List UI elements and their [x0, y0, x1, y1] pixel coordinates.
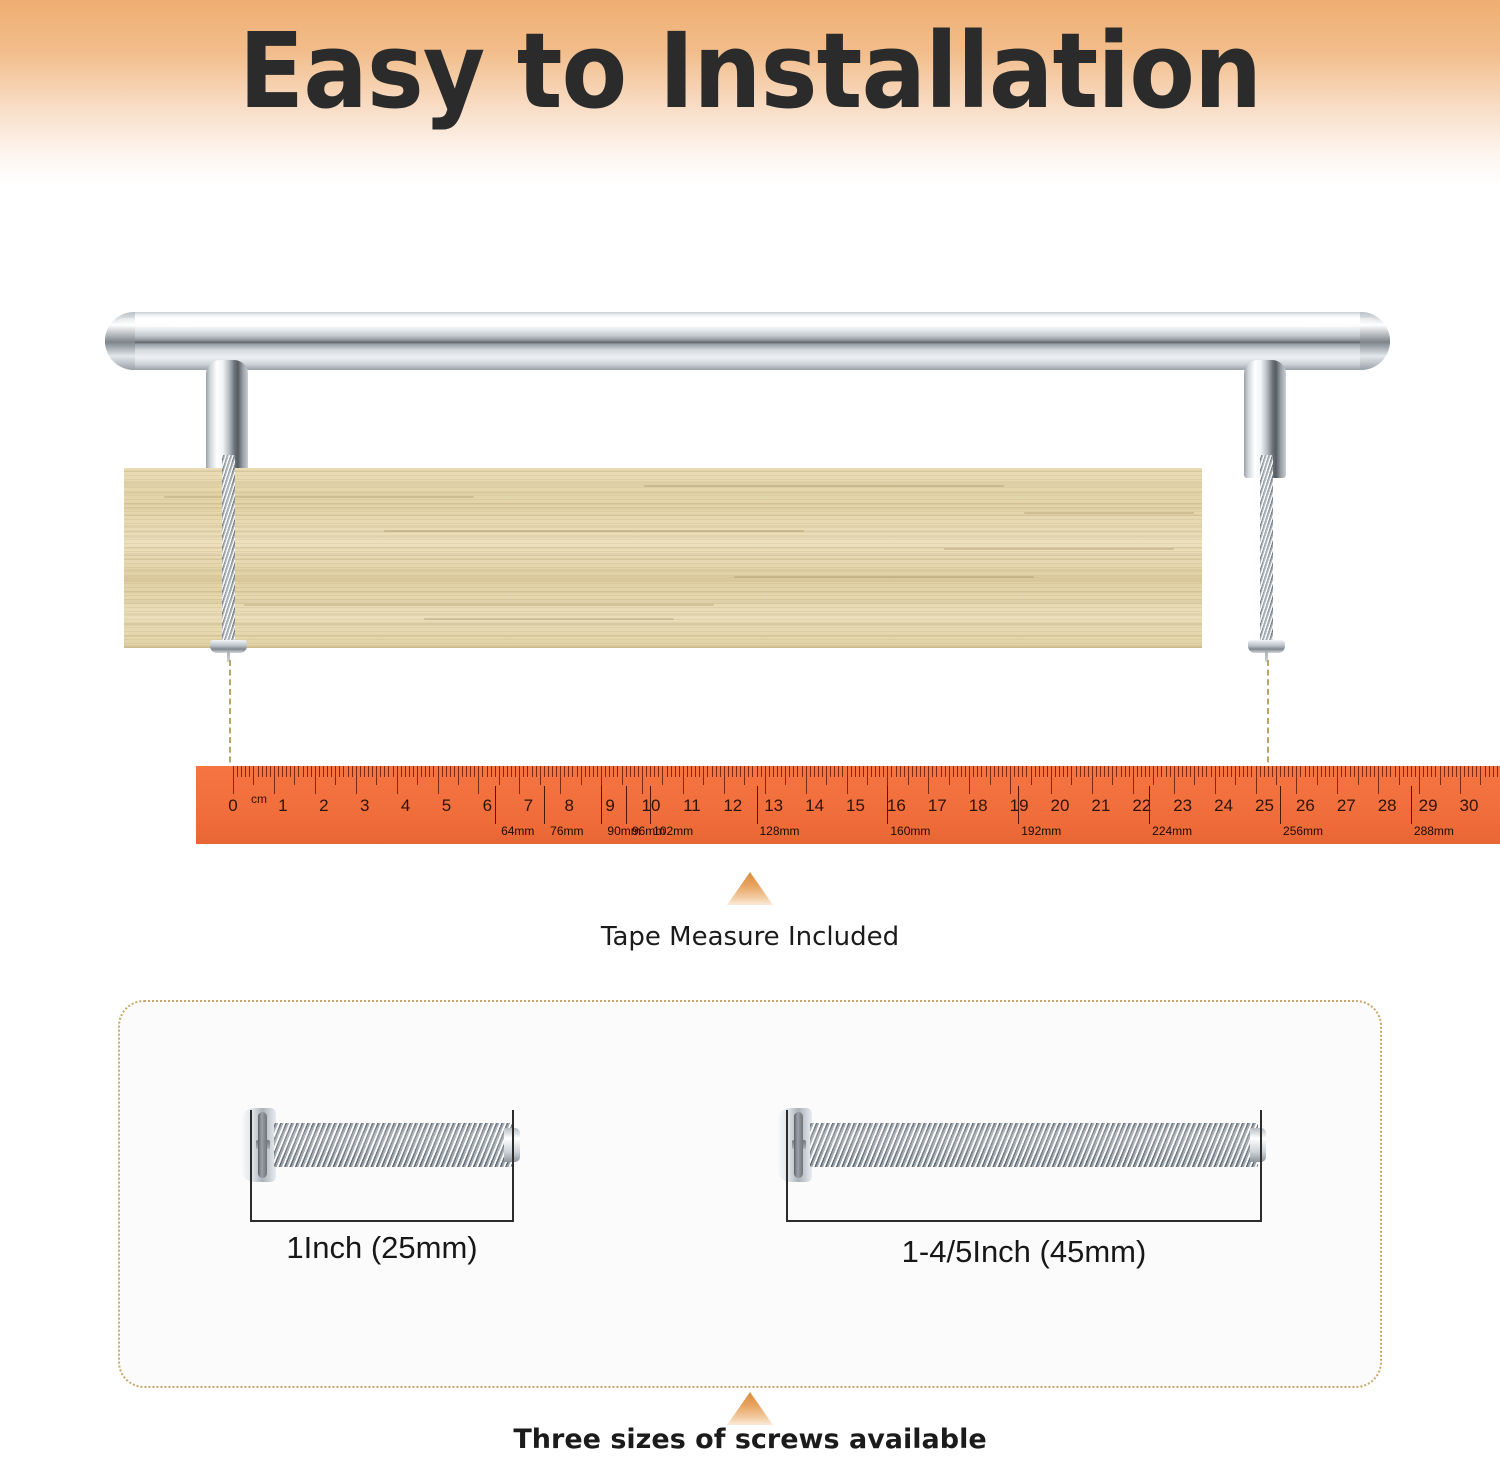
ruler-mm-mark	[887, 786, 888, 824]
ruler-tick	[949, 766, 950, 785]
ruler-tick	[1337, 766, 1338, 794]
ruler-tick	[339, 766, 340, 777]
ruler-tick	[1247, 766, 1248, 777]
ruler-tick	[241, 766, 242, 777]
ruler-tick	[597, 766, 598, 777]
ruler-cm-number: 25	[1255, 796, 1274, 816]
ruler-tick	[1350, 766, 1351, 777]
ruler-tick	[585, 766, 586, 777]
ruler-mm-mark	[757, 786, 758, 824]
ruler-cm-number: 23	[1173, 796, 1192, 816]
ruler-tick	[1178, 766, 1179, 777]
ruler-tick	[356, 766, 357, 794]
ruler-tick	[1448, 766, 1449, 777]
ruler-tick	[671, 766, 672, 777]
ruler-tick	[1125, 766, 1126, 777]
ruler-tick	[973, 766, 974, 777]
ruler-tick	[425, 766, 426, 777]
ruler-tick	[495, 766, 496, 777]
ruler-mm-mark	[544, 786, 545, 824]
ruler-tick	[1264, 766, 1265, 777]
ruler-mm-label: 128mm	[760, 824, 800, 838]
ruler-tick	[1341, 766, 1342, 777]
ruler-tick	[781, 766, 782, 777]
ruler-tick	[998, 766, 999, 777]
ruler-tick	[957, 766, 958, 777]
ruler-tick	[568, 766, 569, 777]
ruler-tick	[1485, 766, 1486, 777]
ruler-tick	[1157, 766, 1158, 777]
ruler-tick	[904, 766, 905, 777]
ruler-tick	[1362, 766, 1363, 777]
ruler-tick	[1309, 766, 1310, 777]
ruler-cm-number: 27	[1337, 796, 1356, 816]
ruler-tick	[757, 766, 758, 777]
ruler-tick	[826, 766, 827, 785]
ruler-tick	[912, 766, 913, 777]
screw-size-label-large: 1-4/5Inch (45mm)	[786, 1234, 1262, 1270]
ruler-cm-number: 21	[1091, 796, 1110, 816]
ruler-tick	[1174, 766, 1175, 794]
ruler-tick	[1378, 766, 1379, 794]
ruler-tick	[932, 766, 933, 777]
ruler-tick	[376, 766, 377, 785]
ruler-tick	[1370, 766, 1371, 777]
ruler-tick	[1411, 766, 1412, 777]
ruler-tick	[249, 766, 250, 777]
alignment-dashed-line-right	[1267, 660, 1269, 772]
ruler-tick	[908, 766, 909, 785]
ruler-tick	[1149, 766, 1150, 777]
ruler-tick	[875, 766, 876, 777]
tape-measure-caption: Tape Measure Included	[0, 922, 1500, 952]
ruler-mm-label: 76mm	[550, 824, 583, 838]
ruler-tick	[1014, 766, 1015, 777]
ruler-tick	[613, 766, 614, 777]
ruler-tick	[1080, 766, 1081, 777]
ruler-tick	[810, 766, 811, 777]
ruler-tick	[442, 766, 443, 777]
ruler-tick	[1096, 766, 1097, 777]
ruler-tick	[499, 766, 500, 785]
ruler-tick	[393, 766, 394, 777]
ruler-tick	[421, 766, 422, 777]
ruler-tick	[446, 766, 447, 777]
ruler-tick	[1354, 766, 1355, 777]
ruler-tick	[834, 766, 835, 777]
ruler-tick	[552, 766, 553, 777]
ruler-mm-label: 160mm	[890, 824, 930, 838]
ruler-tick	[961, 766, 962, 777]
ruler-tick	[712, 766, 713, 777]
ruler-tick	[401, 766, 402, 777]
ruler-tick	[1022, 766, 1023, 777]
ruler-tick	[1202, 766, 1203, 777]
ruler-tick	[360, 766, 361, 777]
ruler-cm-number: 15	[846, 796, 865, 816]
ruler-tick	[331, 766, 332, 777]
ruler-tick	[1415, 766, 1416, 777]
ruler-tick	[1382, 766, 1383, 777]
ruler-tick	[556, 766, 557, 777]
installed-screw-right	[1260, 455, 1273, 653]
ruler-tick	[593, 766, 594, 777]
ruler-tick	[450, 766, 451, 777]
ruler-tick	[1243, 766, 1244, 777]
ruler-tick	[311, 766, 312, 777]
alignment-dashed-line-left	[229, 660, 231, 772]
ruler-cm-number: 14	[805, 796, 824, 816]
ruler-tick	[560, 766, 561, 794]
ruler-unit-label: cm	[251, 792, 267, 806]
ruler-mm-mark	[626, 786, 627, 824]
ruler-tick	[364, 766, 365, 777]
ruler-tick	[397, 766, 398, 794]
ruler-tick	[298, 766, 299, 777]
ruler-tick	[785, 766, 786, 785]
ruler-tick	[1186, 766, 1187, 777]
ruler-tick	[675, 766, 676, 777]
ruler-tick	[532, 766, 533, 777]
ruler-tick	[1440, 766, 1441, 785]
ruler-tick	[474, 766, 475, 777]
ruler-tick	[1464, 766, 1465, 777]
ruler-tick	[1190, 766, 1191, 777]
ruler-tick	[1223, 766, 1224, 777]
ruler-tick	[769, 766, 770, 777]
ruler-tick	[536, 766, 537, 777]
ruler-tick	[335, 766, 336, 785]
ruler-tick	[417, 766, 418, 785]
ruler-mm-mark	[1411, 786, 1412, 824]
ruler-tick	[642, 766, 643, 794]
screws-caption: Three sizes of screws available	[0, 1424, 1500, 1455]
ruler-tick	[1133, 766, 1134, 794]
ruler-tick	[818, 766, 819, 777]
screws-panel: 1Inch (25mm) 1-4/5Inch (45mm)	[118, 1000, 1382, 1388]
ruler-tick	[777, 766, 778, 777]
ruler-tick	[1006, 766, 1007, 777]
ruler-tick	[752, 766, 753, 777]
ruler-tick	[1300, 766, 1301, 777]
ruler-cm-number: 0	[228, 796, 237, 816]
ruler-tick	[1407, 766, 1408, 777]
ruler-tick	[482, 766, 483, 777]
ruler-tick	[1166, 766, 1167, 777]
ruler-tick	[990, 766, 991, 785]
ruler-tick	[1137, 766, 1138, 777]
ruler-tick	[1071, 766, 1072, 785]
ruler-tick	[1059, 766, 1060, 777]
ruler-mm-label: 102mm	[653, 824, 693, 838]
ruler-tick	[740, 766, 741, 777]
ruler-tick	[286, 766, 287, 777]
ruler-tick	[797, 766, 798, 777]
ruler-tick	[1345, 766, 1346, 777]
ruler-tick	[667, 766, 668, 777]
ruler-tick	[617, 766, 618, 777]
ruler-tick	[1182, 766, 1183, 777]
ruler-tick	[266, 766, 267, 777]
ruler-cm-number: 7	[524, 796, 533, 816]
ruler-tick	[503, 766, 504, 777]
ruler-tick	[953, 766, 954, 777]
ruler-tick	[348, 766, 349, 777]
ruler-mm-mark	[1018, 786, 1019, 824]
ruler-tick	[650, 766, 651, 777]
ruler-tick	[683, 766, 684, 794]
ruler-tick	[270, 766, 271, 777]
tape-measure-ruler: 0123456789101112131415161718192021222324…	[196, 766, 1500, 844]
wood-cabinet-door-panel	[124, 468, 1202, 648]
ruler-tick	[1051, 766, 1052, 794]
ruler-tick	[253, 766, 254, 785]
ruler-tick	[969, 766, 970, 794]
ruler-tick	[855, 766, 856, 777]
ruler-tick	[830, 766, 831, 777]
screw-size-label-small: 1Inch (25mm)	[250, 1230, 514, 1266]
ruler-tick	[896, 766, 897, 777]
ruler-tick	[384, 766, 385, 777]
ruler-tick	[1460, 766, 1461, 794]
ruler-tick	[679, 766, 680, 777]
ruler-tick	[1284, 766, 1285, 777]
ruler-tick	[491, 766, 492, 777]
ruler-tick	[1129, 766, 1130, 777]
ruler-tick	[1472, 766, 1473, 777]
ruler-cm-number: 28	[1378, 796, 1397, 816]
ruler-tick	[1055, 766, 1056, 777]
ruler-tick	[695, 766, 696, 777]
ruler-tick	[1333, 766, 1334, 777]
ruler-tick	[638, 766, 639, 777]
ruler-tick	[274, 766, 275, 794]
ruler-tick	[1239, 766, 1240, 777]
installation-illustration	[0, 0, 1500, 860]
ruler-tick	[720, 766, 721, 777]
ruler-tick	[1489, 766, 1490, 777]
ruler-tick	[519, 766, 520, 794]
ruler-tick	[1039, 766, 1040, 777]
ruler-tick	[564, 766, 565, 777]
ruler-tick	[748, 766, 749, 777]
ruler-tick	[654, 766, 655, 777]
ruler-tick	[1010, 766, 1011, 794]
ruler-tick	[662, 766, 663, 785]
ruler-tick	[372, 766, 373, 777]
ruler-tick	[765, 766, 766, 794]
ruler-tick	[634, 766, 635, 777]
ruler-cm-number: 4	[401, 796, 410, 816]
ruler-tick	[1141, 766, 1142, 777]
ruler-tick	[703, 766, 704, 785]
screw-measure-bracket-large	[786, 1110, 1262, 1222]
ruler-tick	[1288, 766, 1289, 777]
ruler-tick	[1076, 766, 1077, 777]
ruler-tick	[1427, 766, 1428, 777]
ruler-tick	[278, 766, 279, 777]
ruler-tick	[773, 766, 774, 777]
ruler-tick	[290, 766, 291, 777]
ruler-tick	[1435, 766, 1436, 777]
screw-measure-bracket-small	[250, 1110, 514, 1222]
ruler-mm-mark	[650, 786, 651, 824]
ruler-tick	[1170, 766, 1171, 777]
ruler-tick	[736, 766, 737, 777]
ruler-tick	[724, 766, 725, 794]
ruler-tick	[343, 766, 344, 777]
ruler-mm-label: 256mm	[1283, 824, 1323, 838]
ruler-cm-number: 18	[969, 796, 988, 816]
ruler-tick	[1329, 766, 1330, 777]
ruler-tick	[577, 766, 578, 777]
ruler-tick	[327, 766, 328, 777]
ruler-tick	[1018, 766, 1019, 777]
ruler-tick	[936, 766, 937, 777]
ruler-tick	[1456, 766, 1457, 777]
ruler-tick	[1305, 766, 1306, 777]
ruler-tick	[458, 766, 459, 785]
ruler-cm-number: 30	[1460, 796, 1479, 816]
ruler-tick	[977, 766, 978, 777]
ruler-tick	[1280, 766, 1281, 777]
ruler-tick	[1292, 766, 1293, 777]
ruler-tick	[282, 766, 283, 777]
ruler-tick	[589, 766, 590, 777]
ruler-tick	[429, 766, 430, 777]
ruler-cm-number: 8	[564, 796, 573, 816]
ruler-tick	[842, 766, 843, 777]
ruler-cm-number: 20	[1051, 796, 1070, 816]
ruler-tick	[1219, 766, 1220, 777]
ruler-tick	[859, 766, 860, 777]
ruler-tick	[646, 766, 647, 777]
ruler-tick	[1325, 766, 1326, 777]
ruler-mm-mark	[601, 786, 602, 824]
ruler-tick	[487, 766, 488, 777]
ruler-cm-number: 9	[605, 796, 614, 816]
ruler-tick	[1374, 766, 1375, 777]
ruler-tick	[1047, 766, 1048, 777]
ruler-tick	[928, 766, 929, 794]
ruler-tick	[1399, 766, 1400, 785]
ruler-tick	[303, 766, 304, 777]
ruler-tick	[368, 766, 369, 777]
ruler-tick	[838, 766, 839, 777]
ruler-tick	[315, 766, 316, 794]
ruler-tick	[1067, 766, 1068, 777]
ruler-tick	[891, 766, 892, 777]
ruler-tick	[470, 766, 471, 777]
ruler-tick	[1116, 766, 1117, 777]
ruler-tick	[572, 766, 573, 777]
ruler-tick	[515, 766, 516, 777]
ruler-tick	[1035, 766, 1036, 777]
ruler-tick	[507, 766, 508, 777]
ruler-tick	[1296, 766, 1297, 794]
ruler-tick	[1403, 766, 1404, 777]
ruler-tick	[793, 766, 794, 777]
ruler-tick	[924, 766, 925, 777]
ruler-tick	[941, 766, 942, 777]
ruler-tick	[1272, 766, 1273, 777]
ruler-tick	[707, 766, 708, 777]
ruler-tick	[454, 766, 455, 777]
ruler-tick	[245, 766, 246, 777]
ruler-tick	[1395, 766, 1396, 777]
ruler-tick	[916, 766, 917, 777]
ruler-tick	[1121, 766, 1122, 777]
ruler-mm-label: 224mm	[1152, 824, 1192, 838]
ruler-cm-number: 1	[278, 796, 287, 816]
ruler-tick	[1104, 766, 1105, 777]
installed-screw-left	[222, 455, 235, 653]
ruler-tick	[319, 766, 320, 777]
ruler-cm-number: 5	[442, 796, 451, 816]
ruler-cm-number: 24	[1214, 796, 1233, 816]
ruler-tick	[1313, 766, 1314, 777]
ruler-tick	[687, 766, 688, 777]
ruler-cm-number: 13	[764, 796, 783, 816]
ruler-tick	[802, 766, 803, 777]
ruler-cm-number: 12	[723, 796, 742, 816]
ruler-tick	[1002, 766, 1003, 777]
ruler-tick	[1198, 766, 1199, 777]
ruler-tick	[1366, 766, 1367, 777]
ruler-tick	[1043, 766, 1044, 777]
ruler-tick	[1423, 766, 1424, 777]
ruler-tick	[626, 766, 627, 777]
ruler-tick	[871, 766, 872, 777]
ruler-tick	[965, 766, 966, 777]
ruler-tick	[1063, 766, 1064, 777]
ruler-tick	[1088, 766, 1089, 777]
ruler-tick	[1256, 766, 1257, 794]
ruler-tick	[658, 766, 659, 777]
ruler-tick	[814, 766, 815, 777]
ruler-tick	[728, 766, 729, 777]
ruler-tick	[511, 766, 512, 777]
ruler-tick	[1161, 766, 1162, 777]
ruler-tick	[433, 766, 434, 777]
ruler-tick	[1317, 766, 1318, 785]
ruler-tick	[851, 766, 852, 777]
ruler-tick	[789, 766, 790, 777]
ruler-tick	[409, 766, 410, 777]
ruler-tick	[1251, 766, 1252, 777]
ruler-tick	[462, 766, 463, 777]
ruler-tick	[920, 766, 921, 777]
ruler-tick	[258, 766, 259, 777]
ruler-tick	[262, 766, 263, 777]
ruler-tick	[1026, 766, 1027, 777]
ruler-tick	[1211, 766, 1212, 777]
ruler-tick	[527, 766, 528, 777]
ruler-tick	[605, 766, 606, 777]
ruler-tick	[1112, 766, 1113, 785]
ruler-tick	[388, 766, 389, 777]
ruler-cm-number: 6	[483, 796, 492, 816]
ruler-cm-number: 2	[319, 796, 328, 816]
ruler-tick	[1206, 766, 1207, 777]
ruler-tick	[237, 766, 238, 777]
ruler-tick	[1194, 766, 1195, 785]
ruler-tick	[1358, 766, 1359, 785]
ruler-tick	[1276, 766, 1277, 785]
ruler-tick	[233, 766, 234, 794]
screws-caption-arrow-icon	[727, 1392, 773, 1425]
ruler-tick	[523, 766, 524, 777]
